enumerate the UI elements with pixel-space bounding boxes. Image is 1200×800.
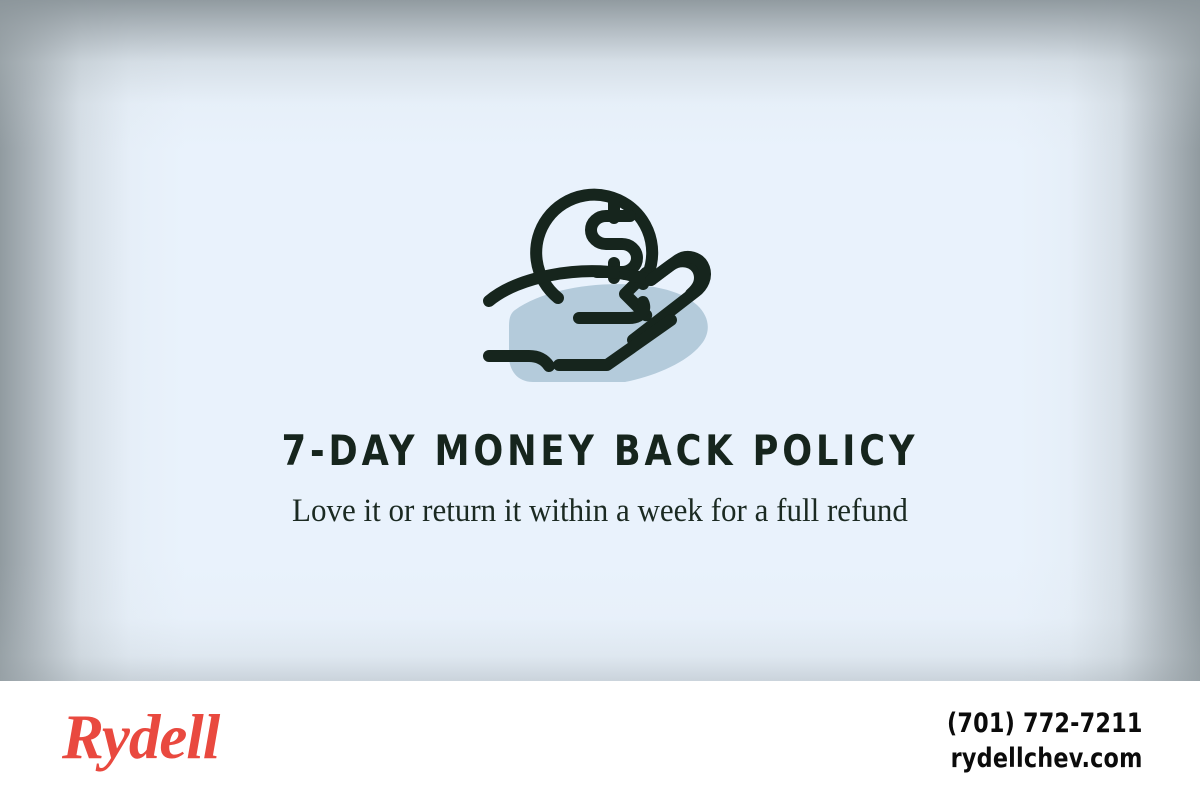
money-back-hand-icon <box>475 160 725 400</box>
promo-card: 7-DAY MONEY BACK POLICY Love it or retur… <box>0 0 1200 800</box>
page-subtitle: Love it or return it within a week for a… <box>271 489 929 534</box>
page-title: 7-DAY MONEY BACK POLICY <box>42 425 1158 477</box>
phone-number[interactable]: (701) 772-7211 <box>947 706 1143 741</box>
contact-info: (701) 772-7211 rydellchev.com <box>930 706 1143 776</box>
icon-container <box>0 150 1200 410</box>
text-block: 7-DAY MONEY BACK POLICY Love it or retur… <box>0 425 1200 534</box>
footer-bar: Rydell (701) 772-7211 rydellchev.com <box>0 681 1200 800</box>
website-url[interactable]: rydellchev.com <box>947 741 1143 776</box>
brand-logo[interactable]: Rydell <box>62 706 219 769</box>
hero-panel: 7-DAY MONEY BACK POLICY Love it or retur… <box>0 0 1200 681</box>
